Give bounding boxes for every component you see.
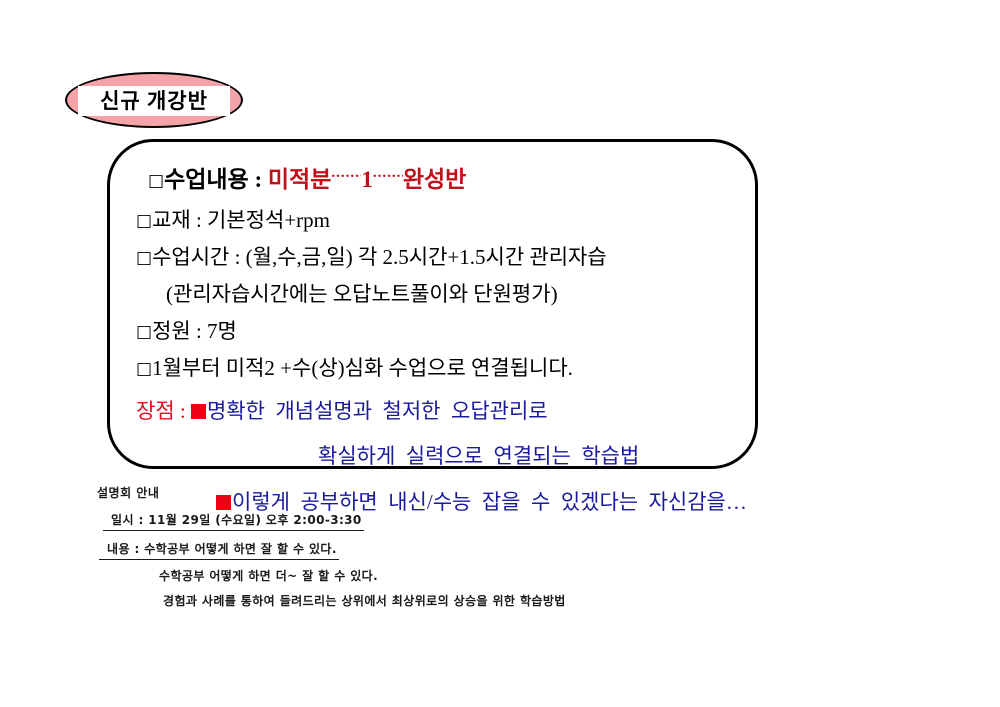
course-info-body: □수업내용 : 미적분1완성반 □교재 : 기본정석+rpm □수업시간 : (… — [136, 164, 737, 516]
benefit-text-2: 확실하게 실력으로 연결되는 학습법 — [318, 444, 639, 468]
course-title-part1: 미적분 — [268, 167, 331, 192]
notice-subline-2: 경험과 사례를 통하여 들려드리는 상위에서 최상위로의 상승을 위한 학습방법 — [163, 592, 897, 609]
capacity-row: □정원 : 7명 — [136, 321, 737, 342]
course-content-value: 미적분1완성반 — [268, 164, 466, 191]
red-square-bullet-icon — [191, 404, 206, 419]
capacity-text: 정원 : 7명 — [152, 319, 237, 343]
benefit-label: 장점 : — [136, 395, 191, 425]
checkbox-square-icon: □ — [136, 248, 152, 268]
benefit-text-1: 명확한 개념설명과 철저한 오답관리로 — [207, 395, 548, 425]
continuation-row: □1월부터 미적2 +수(상)심화 수업으로 연결됩니다. — [136, 358, 737, 379]
course-content-label: 수업내용 : — [164, 168, 268, 191]
notice-title: 설명회 안내 — [97, 484, 897, 501]
class-time-text: 수업시간 : (월,수,금,일) 각 2.5시간+1.5시간 관리자습 — [152, 245, 607, 269]
new-class-badge: 신규 개강반 — [65, 72, 243, 128]
benefit-row-1: 장점 : 명확한 개념설명과 철저한 오답관리로 — [136, 395, 737, 425]
course-title-part2: 1 — [361, 167, 373, 192]
checkbox-square-icon: □ — [136, 359, 152, 379]
tab-leader-dots-1 — [331, 157, 361, 180]
checkbox-square-icon: □ — [148, 173, 164, 190]
continuation-text: 1월부터 미적2 +수(상)심화 수업으로 연결됩니다. — [152, 356, 573, 380]
benefit-row-2: 확실하게 실력으로 연결되는 학습법 — [136, 440, 737, 470]
textbook-row: □교재 : 기본정석+rpm — [136, 210, 737, 231]
checkbox-square-icon: □ — [136, 211, 152, 231]
notice-content: 내용 : 수학공부 어떻게 하면 잘 할 수 있다. — [99, 540, 339, 560]
checkbox-square-icon: □ — [136, 322, 152, 342]
textbook-text: 교재 : 기본정석+rpm — [152, 208, 330, 232]
notice-content-wrapper: 내용 : 수학공부 어떻게 하면 잘 할 수 있다. — [99, 538, 897, 567]
tab-leader-dots-2 — [373, 157, 403, 180]
class-time-note-text: (관리자습시간에는 오답노트풀이와 단원평가) — [166, 282, 558, 306]
notice-datetime: 일시 : 11월 29일 (수요일) 오후 2:00-3:30 — [103, 511, 364, 531]
course-content-row: □수업내용 : 미적분1완성반 — [136, 164, 737, 191]
info-session-notice: 설명회 안내 일시 : 11월 29일 (수요일) 오후 2:00-3:30 내… — [97, 484, 897, 617]
class-time-row: □수업시간 : (월,수,금,일) 각 2.5시간+1.5시간 관리자습 — [136, 247, 737, 268]
course-title-part3: 완성반 — [403, 167, 466, 192]
notice-datetime-wrapper: 일시 : 11월 29일 (수요일) 오후 2:00-3:30 — [103, 509, 897, 538]
notice-subline-1: 수학공부 어떻게 하면 더~ 잘 할 수 있다. — [159, 567, 897, 584]
class-time-note-row: (관리자습시간에는 오답노트풀이와 단원평가) — [136, 284, 737, 305]
badge-label: 신규 개강반 — [100, 91, 208, 112]
badge-label-box: 신규 개강반 — [78, 86, 230, 116]
course-info-panel: □수업내용 : 미적분1완성반 □교재 : 기본정석+rpm □수업시간 : (… — [107, 139, 758, 469]
